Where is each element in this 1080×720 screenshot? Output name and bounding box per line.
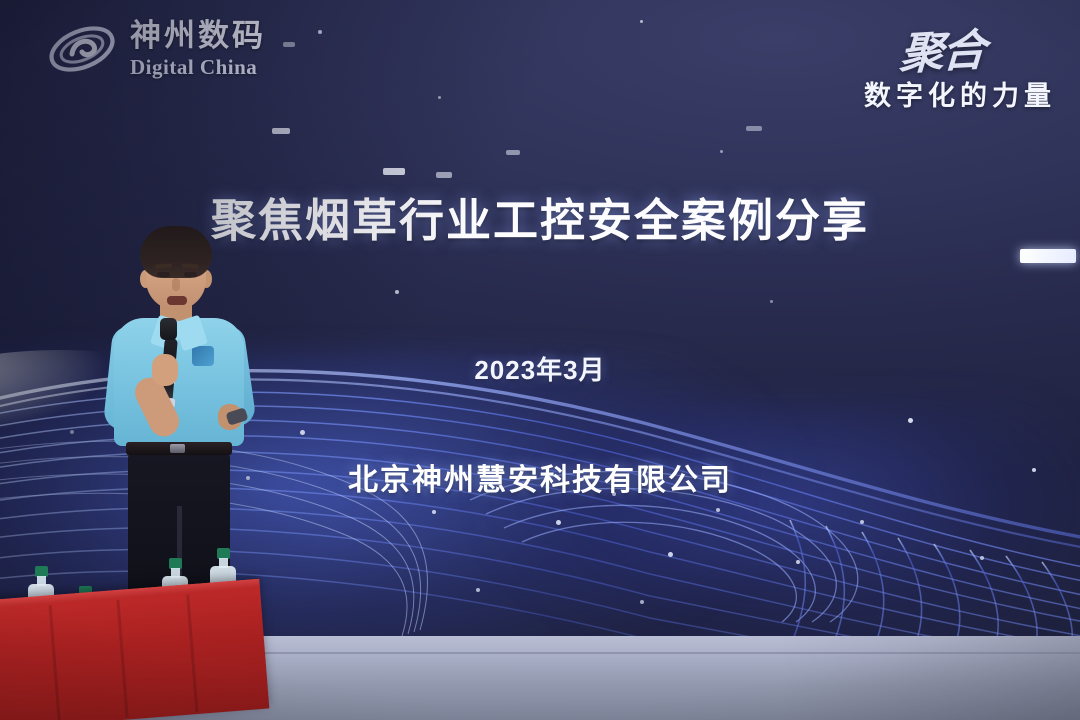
red-draped-table <box>0 579 269 720</box>
mouth <box>167 296 187 305</box>
particle <box>438 96 441 99</box>
brand-name-cn: 神州数码 <box>130 20 266 51</box>
conference-photo: 神州数码 Digital China 聚合 数字化的力量 聚焦烟草行业工控安全案… <box>0 0 1080 720</box>
belt-buckle <box>170 444 185 453</box>
chest-logo-badge <box>192 346 214 366</box>
particle-dash <box>436 172 452 178</box>
screen-edge-light-dash <box>1020 249 1076 263</box>
digital-china-brand: 神州数码 Digital China <box>46 18 266 80</box>
microphone-head <box>160 318 177 340</box>
eye-left <box>157 272 170 277</box>
particle-dash <box>506 150 520 155</box>
hand-holding-microphone <box>152 354 178 386</box>
event-calligraphy: 聚合 <box>898 14 986 82</box>
particle-dash <box>746 126 762 131</box>
presenter-hair <box>140 226 212 278</box>
particle <box>720 150 723 153</box>
particle <box>640 20 643 23</box>
particle <box>318 30 322 34</box>
eye-right <box>184 272 197 277</box>
particle-dash <box>383 168 405 175</box>
particle <box>395 290 399 294</box>
digital-china-swirl-logo <box>46 18 118 80</box>
particle <box>770 300 773 303</box>
brand-name-en: Digital China <box>130 57 266 78</box>
particle-dash <box>283 42 295 47</box>
nose <box>172 278 180 291</box>
event-brand: 聚合 数字化的力量 <box>864 16 1056 113</box>
particle-dash <box>272 128 290 134</box>
event-tagline: 数字化的力量 <box>864 74 1056 113</box>
